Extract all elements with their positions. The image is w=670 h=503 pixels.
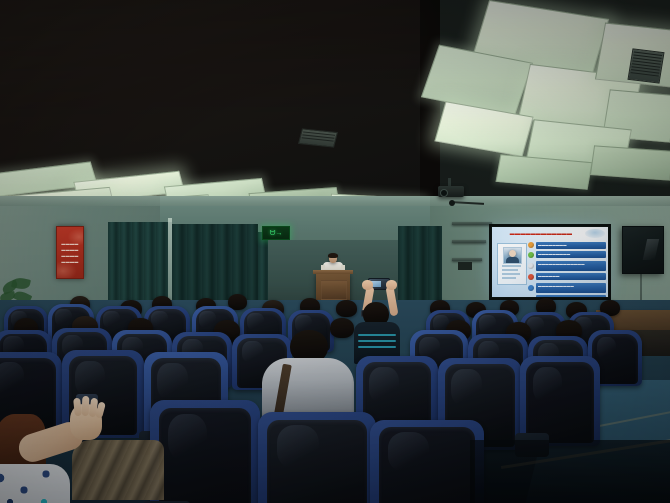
bullet-dot [528,242,534,248]
slide-bullet: ▬▬▬▬▬▬▬▬▬▬ [528,282,606,293]
patterned-blouse [0,464,70,503]
slide-watermark-logo [585,229,605,238]
bullet-dot [528,285,534,291]
auditorium-seat[interactable] [150,400,260,503]
poster-line: ▬▬▬▬ [61,254,78,258]
exit-sign: ᗢ→ [262,226,290,240]
foreground-shadow [470,440,670,503]
hand [362,280,373,290]
slide-bullet: ▬▬▬▬▬▬▬▬▬▬▬▬▬ [528,260,606,271]
bullet-text: ▬▬▬▬▬▬▬▬▬▬▬▬▬ [536,261,606,271]
auditorium-seat[interactable] [370,420,484,503]
wall-poster: ▬▬▬▬ ▬▬▬▬ ▬▬▬▬ ▬▬▬▬ [56,226,84,279]
equipment-shelf [452,240,486,243]
slide-title: ▬▬▬▬▬▬▬▬▬▬▬▬ [498,230,584,238]
light-panel [590,145,670,180]
auditorium-seat[interactable] [258,412,376,503]
bullet-text: ▬▬▬▬▬▬▬▬▬ [536,251,606,258]
auditorium-photo: ᗢ→ ▬▬▬▬ ▬▬▬▬ ▬▬▬▬ ▬▬▬▬ ▬▬▬▬▬▬▬▬▬ [0,0,670,503]
curtain-divider-post [168,218,172,308]
slide-bullet: ▬▬▬▬▬▬▬▬▬ [528,251,606,259]
wall-mounted-display [622,226,664,274]
curtain-center-left [172,224,258,308]
wall-trim-strip [0,196,670,206]
bullet-dot [528,263,534,269]
microphone-head [449,200,455,206]
poster-line: ▬▬▬▬ [61,242,78,246]
slide-bullet: ▬▬▬▬▬▬ [528,273,606,281]
jacket-on-seat [72,440,164,500]
slide-id-card-graphic [497,243,527,285]
projection-screen: ▬▬▬▬▬▬▬▬▬▬▬▬ ▬▬▬▬▬▬▬▬ ▬▬▬▬▬▬▬▬▬ [489,224,611,300]
audience-photographer [350,278,406,363]
slide-bullet-list: ▬▬▬▬▬▬▬▬ ▬▬▬▬▬▬▬▬▬ ▬▬▬▬▬▬▬▬▬▬▬▬▬ ▬▬▬▬▬▬ … [528,241,606,297]
bullet-text: ▬▬▬▬▬▬▬▬▬▬ [536,283,606,293]
bullet-text: ▬▬▬▬▬▬▬▬ [536,242,606,249]
foreground-woman [0,392,144,503]
slide-bullet: ▬▬▬▬▬▬▬▬▬▬▬▬ [528,295,606,298]
bullet-dot [528,274,534,280]
hand [386,280,397,290]
poster-line: ▬▬▬▬ [61,260,78,264]
projector-lens [440,189,448,197]
equipment-box [458,262,472,270]
slide-bullet: ▬▬▬▬▬▬▬▬ [528,241,606,249]
id-photo [503,247,522,264]
bullet-text: ▬▬▬▬▬▬ [536,273,606,280]
poster-line: ▬▬▬▬ [61,248,78,252]
slide-surface: ▬▬▬▬▬▬▬▬▬▬▬▬ ▬▬▬▬▬▬▬▬ ▬▬▬▬▬▬▬▬▬ [492,227,608,297]
bullet-dot [528,252,534,258]
bullet-text: ▬▬▬▬▬▬▬▬▬▬▬▬ [536,295,606,297]
auditorium-seat[interactable] [520,356,600,446]
equipment-shelf [452,222,492,225]
exit-sign-label: ᗢ→ [270,230,283,237]
audience-member-gray-shirt [262,330,354,420]
air-vent-grille [627,48,664,83]
ceiling-projector [438,186,464,197]
equipment-shelf [452,258,482,261]
